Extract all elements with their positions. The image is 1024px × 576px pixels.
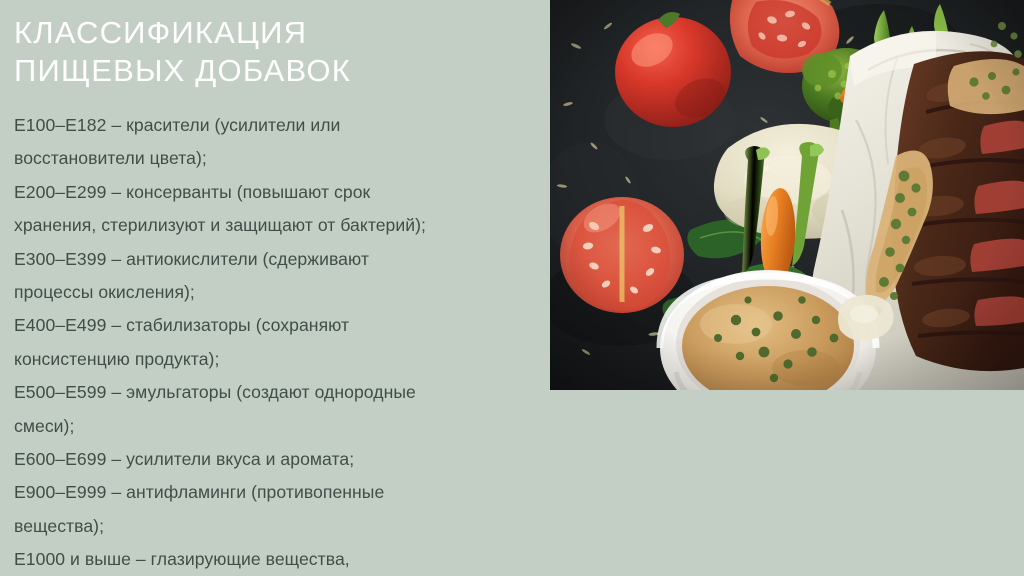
- additive-class-list: E100–E182 – красители (усилители или вос…: [14, 109, 538, 576]
- list-item: вещества);: [14, 510, 538, 543]
- list-item: смеси);: [14, 410, 538, 443]
- list-item: хранения, стерилизуют и защищают от бакт…: [14, 209, 538, 242]
- list-item: E300–E399 – антиокислители (сдерживают: [14, 243, 538, 276]
- list-item: E500–E599 – эмульгаторы (создают однород…: [14, 376, 538, 409]
- page-title: КЛАССИФИКАЦИЯ ПИЩЕВЫХ ДОБАВОК: [14, 14, 538, 90]
- list-item: E1000 и выше – глазирующие вещества,: [14, 543, 538, 576]
- food-photograph-image: [550, 0, 1024, 390]
- list-item: восстановители цвета);: [14, 142, 538, 175]
- list-item: процессы окисления);: [14, 276, 538, 309]
- list-item: E400–E499 – стабилизаторы (сохраняют: [14, 309, 538, 342]
- food-photograph: [550, 0, 1024, 390]
- list-item: E900–E999 – антифламинги (противопенные: [14, 476, 538, 509]
- text-column: КЛАССИФИКАЦИЯ ПИЩЕВЫХ ДОБАВОК E100–E182 …: [0, 0, 546, 576]
- list-item: E100–E182 – красители (усилители или: [14, 109, 538, 142]
- slide-root: КЛАССИФИКАЦИЯ ПИЩЕВЫХ ДОБАВОК E100–E182 …: [0, 0, 1024, 576]
- list-item: E200–E299 – консерванты (повышают срок: [14, 176, 538, 209]
- list-item: E600–E699 – усилители вкуса и аромата;: [14, 443, 538, 476]
- list-item: консистенцию продукта);: [14, 343, 538, 376]
